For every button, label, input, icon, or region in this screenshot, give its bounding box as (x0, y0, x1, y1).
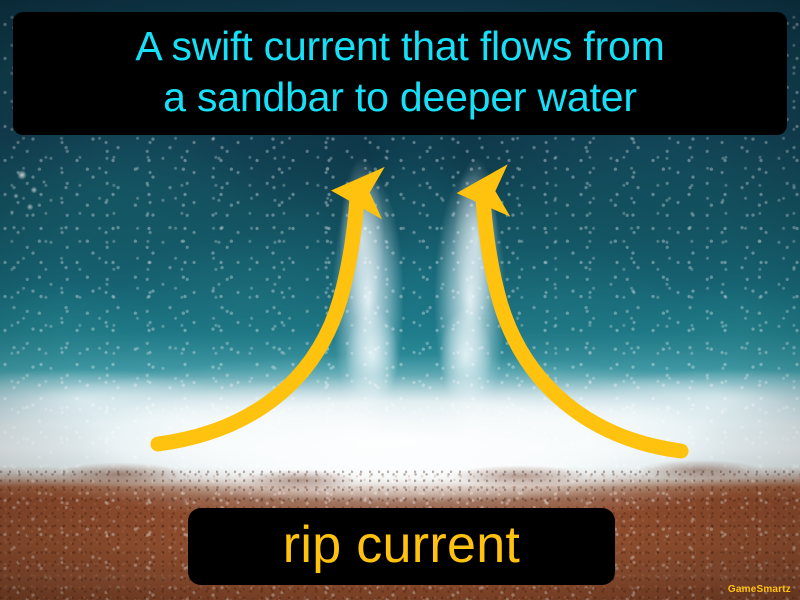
definition-line-2: a sandbar to deeper water (163, 72, 637, 123)
left-flow-arrow (158, 196, 357, 444)
term-plate: rip current (188, 508, 615, 585)
definition-banner: A swift current that flows from a sandba… (13, 12, 787, 135)
rip-current-definition-card: A swift current that flows from a sandba… (0, 0, 800, 600)
term-label: rip current (283, 517, 520, 573)
definition-line-1: A swift current that flows from (135, 21, 664, 72)
watermark-gamesmartz: GameSmartz (728, 584, 791, 595)
right-flow-arrow (483, 196, 681, 451)
